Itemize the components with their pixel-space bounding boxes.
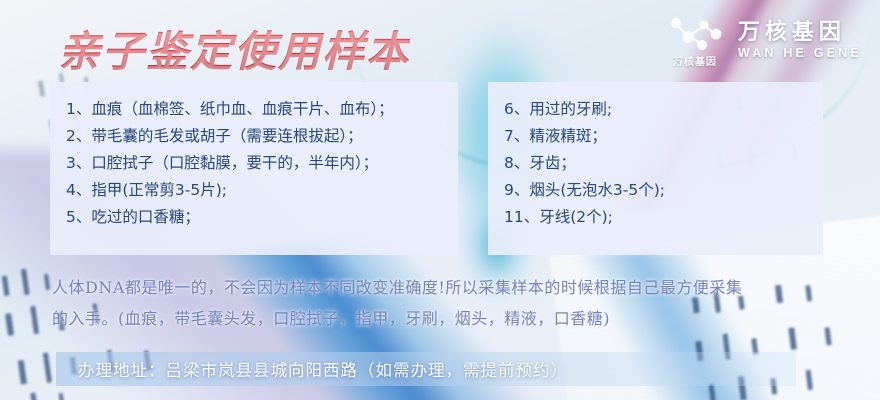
list-item: 3、口腔拭子（口腔黏膜，要干的，半年内）；	[66, 150, 444, 177]
brand-text: 万核基因 WAN HE GENE	[738, 20, 862, 61]
brand-logo: 万核基因 万核基因 WAN HE GENE	[664, 14, 862, 66]
list-item: 11、牙线(2个);	[504, 204, 809, 231]
list-item: 5、吃过的口香糖；	[66, 204, 444, 231]
poster-canvas: 亲子鉴定使用样本 万核基因 万核基	[0, 0, 880, 400]
list-item: 8、牙齿；	[504, 150, 809, 177]
list-item: 4、指甲(正常剪3-5片);	[66, 177, 444, 204]
note-paragraph: 人体DNA都是唯一的，不会因为样本不同改变准确度!所以采集样本的时候根据自己最方…	[52, 272, 852, 334]
brand-name-en: WAN HE GENE	[738, 46, 862, 60]
sample-list-right: 6、用过的牙刷; 7、精液精斑； 8、牙齿； 9、烟头(无泡水3-5个); 11…	[504, 96, 809, 231]
sample-list-left: 1、血痕（血棉签、纸巾血、血痕干片、血布）； 2、带毛囊的毛发或胡子（需要连根拔…	[66, 96, 444, 231]
address-bar: 办理地址：吕梁市岚县县城向阳西路（如需办理，需提前预约）	[56, 352, 796, 386]
list-item: 1、血痕（血棉签、纸巾血、血痕干片、血布）；	[66, 96, 444, 123]
list-item: 2、带毛囊的毛发或胡子（需要连根拔起）；	[66, 123, 444, 150]
note-line-1: 人体DNA都是唯一的，不会因为样本不同改变准确度!所以采集样本的时候根据自己最方…	[52, 272, 852, 303]
sample-list-panel-right: 6、用过的牙刷; 7、精液精斑； 8、牙齿； 9、烟头(无泡水3-5个); 11…	[488, 82, 823, 255]
sample-list-panel-left: 1、血痕（血棉签、纸巾血、血痕干片、血布）； 2、带毛囊的毛发或胡子（需要连根拔…	[50, 82, 458, 255]
list-item: 7、精液精斑；	[504, 123, 809, 150]
address-text: 办理地址：吕梁市岚县县城向阳西路（如需办理，需提前预约）	[56, 357, 568, 381]
brand-name-cn: 万核基因	[738, 20, 862, 45]
list-item: 9、烟头(无泡水3-5个);	[504, 177, 809, 204]
list-item: 6、用过的牙刷;	[504, 96, 809, 123]
brand-mark-label: 万核基因	[664, 53, 726, 68]
page-title: 亲子鉴定使用样本	[58, 18, 410, 79]
note-line-2: 的入手。(血痕，带毛囊头发，口腔拭子，指甲，牙刷，烟头，精液，口香糖)	[52, 303, 852, 334]
molecule-node-icon: 万核基因	[664, 14, 726, 66]
